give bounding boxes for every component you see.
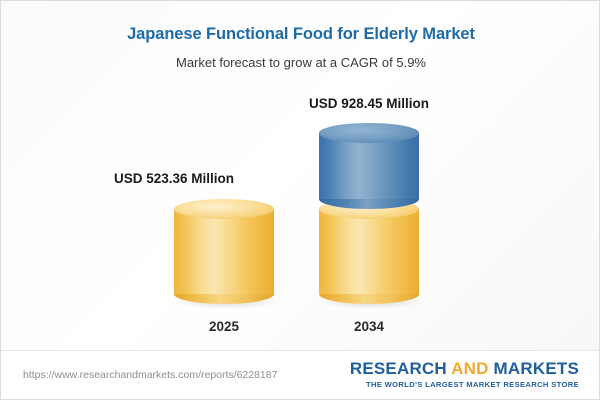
x-axis-tick-2025: 2025 <box>154 319 294 334</box>
bar-segment-growth-2034 <box>319 123 419 209</box>
logo-text-and: AND <box>451 359 488 378</box>
cylinder-body <box>319 209 419 294</box>
report-url[interactable]: https://www.researchandmarkets.com/repor… <box>23 369 277 381</box>
chart-plot-area: USD 523.36 Million 2025 USD 928.45 Milli… <box>1 1 600 351</box>
research-and-markets-logo[interactable]: RESEARCH AND MARKETS THE WORLD'S LARGEST… <box>350 360 579 389</box>
bar-segment-base-2034 <box>319 199 419 304</box>
cylinder-top-cap <box>319 123 419 143</box>
logo-wordmark: RESEARCH AND MARKETS <box>350 360 579 378</box>
cylinder-body <box>174 209 274 294</box>
bar-value-label-2034: USD 928.45 Million <box>259 96 479 111</box>
cylinder-top-cap <box>174 199 274 219</box>
logo-text-research: RESEARCH <box>350 359 451 378</box>
cylinder-2025 <box>164 189 284 304</box>
logo-tagline: THE WORLD'S LARGEST MARKET RESEARCH STOR… <box>350 380 579 389</box>
bar-value-label-2025: USD 523.36 Million <box>64 171 284 186</box>
chart-card: Japanese Functional Food for Elderly Mar… <box>0 0 600 400</box>
bar-segment-base-2025 <box>174 199 274 304</box>
x-axis-tick-2034: 2034 <box>299 319 439 334</box>
footer: https://www.researchandmarkets.com/repor… <box>1 350 599 399</box>
cylinder-2034 <box>309 113 429 304</box>
logo-text-markets: MARKETS <box>489 359 579 378</box>
